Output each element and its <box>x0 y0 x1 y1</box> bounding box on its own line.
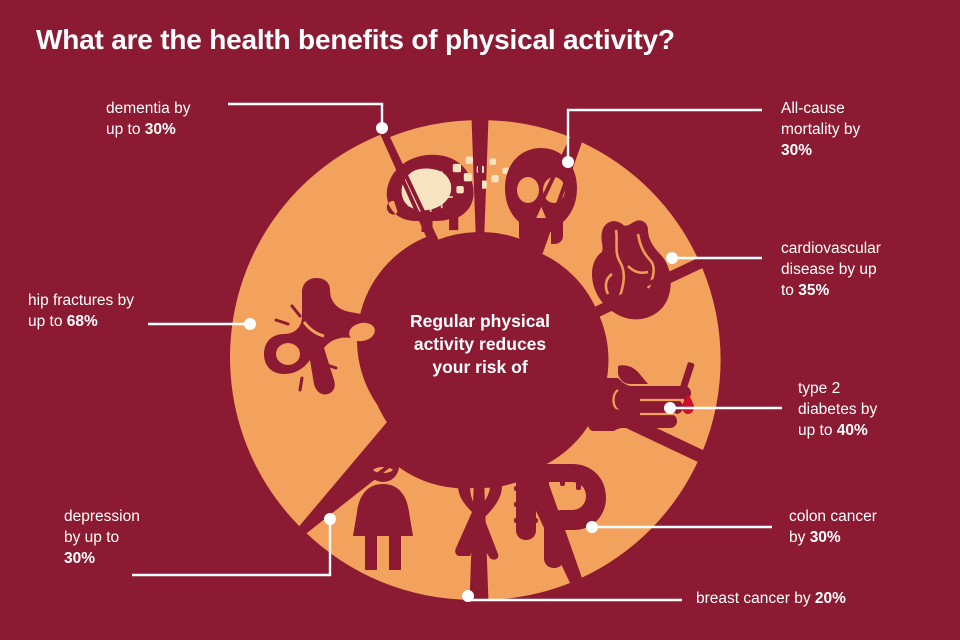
label-colon-value: 30% <box>810 529 841 546</box>
label-mortality-line-2: mortality by <box>781 121 860 138</box>
label-colon-line-2: by <box>789 529 810 546</box>
center-caption-line-1: Regular physical <box>370 310 590 333</box>
leader-dot-diabetes <box>664 402 676 414</box>
label-all-cause-mortality: All-cause mortality by 30% <box>781 98 946 161</box>
leader-dot-breast <box>462 590 474 602</box>
leader-dot-dementia <box>376 122 388 134</box>
label-hip-line-2: up to <box>28 313 67 330</box>
label-depression: depression by up to 30% <box>64 506 214 569</box>
label-cardio-line-1: cardiovascular <box>781 240 881 257</box>
label-dementia-line-2: up to <box>106 121 145 138</box>
leader-dot-cardio <box>666 252 678 264</box>
label-depression-line-2: by up to <box>64 529 119 546</box>
label-mortality-line-1: All-cause <box>781 100 845 117</box>
leader-dot-mortality <box>562 156 574 168</box>
label-cardiovascular-disease: cardiovascular disease by up to 35% <box>781 238 953 301</box>
label-colon-line-1: colon cancer <box>789 508 877 525</box>
label-breast-value: 20% <box>815 590 846 607</box>
label-dementia-value: 30% <box>145 121 176 138</box>
leader-dot-depression <box>324 513 336 525</box>
label-cardio-line-3: to <box>781 282 798 299</box>
center-caption: Regular physical activity reduces your r… <box>370 310 590 379</box>
label-mortality-value: 30% <box>781 142 812 159</box>
leader-dot-colon <box>586 521 598 533</box>
label-depression-line-1: depression <box>64 508 140 525</box>
label-diabetes-line-2: diabetes by <box>798 401 877 418</box>
label-diabetes-line-1: type 2 <box>798 380 840 397</box>
label-dementia-line-1: dementia by <box>106 100 190 117</box>
label-diabetes-value: 40% <box>837 422 868 439</box>
label-type-2-diabetes: type 2 diabetes by up to 40% <box>798 378 948 441</box>
label-cardio-line-2: disease by up <box>781 261 877 278</box>
label-hip-line-1: hip fractures by <box>28 292 134 309</box>
label-hip-fractures: hip fractures by up to 68% <box>28 290 198 332</box>
label-breast-cancer: breast cancer by 20% <box>696 588 926 609</box>
center-caption-line-2: activity reduces <box>370 333 590 356</box>
leader-dot-hip <box>244 318 256 330</box>
label-depression-value: 30% <box>64 550 95 567</box>
label-diabetes-line-3: up to <box>798 422 837 439</box>
label-colon-cancer: colon cancer by 30% <box>789 506 949 548</box>
label-dementia: dementia by up to 30% <box>106 98 256 140</box>
label-breast-line-1: breast cancer by <box>696 590 815 607</box>
label-hip-value: 68% <box>67 313 98 330</box>
label-cardio-value: 35% <box>798 282 829 299</box>
infographic-canvas: What are the health benefits of physical… <box>0 0 960 640</box>
center-caption-line-3: your risk of <box>370 356 590 379</box>
